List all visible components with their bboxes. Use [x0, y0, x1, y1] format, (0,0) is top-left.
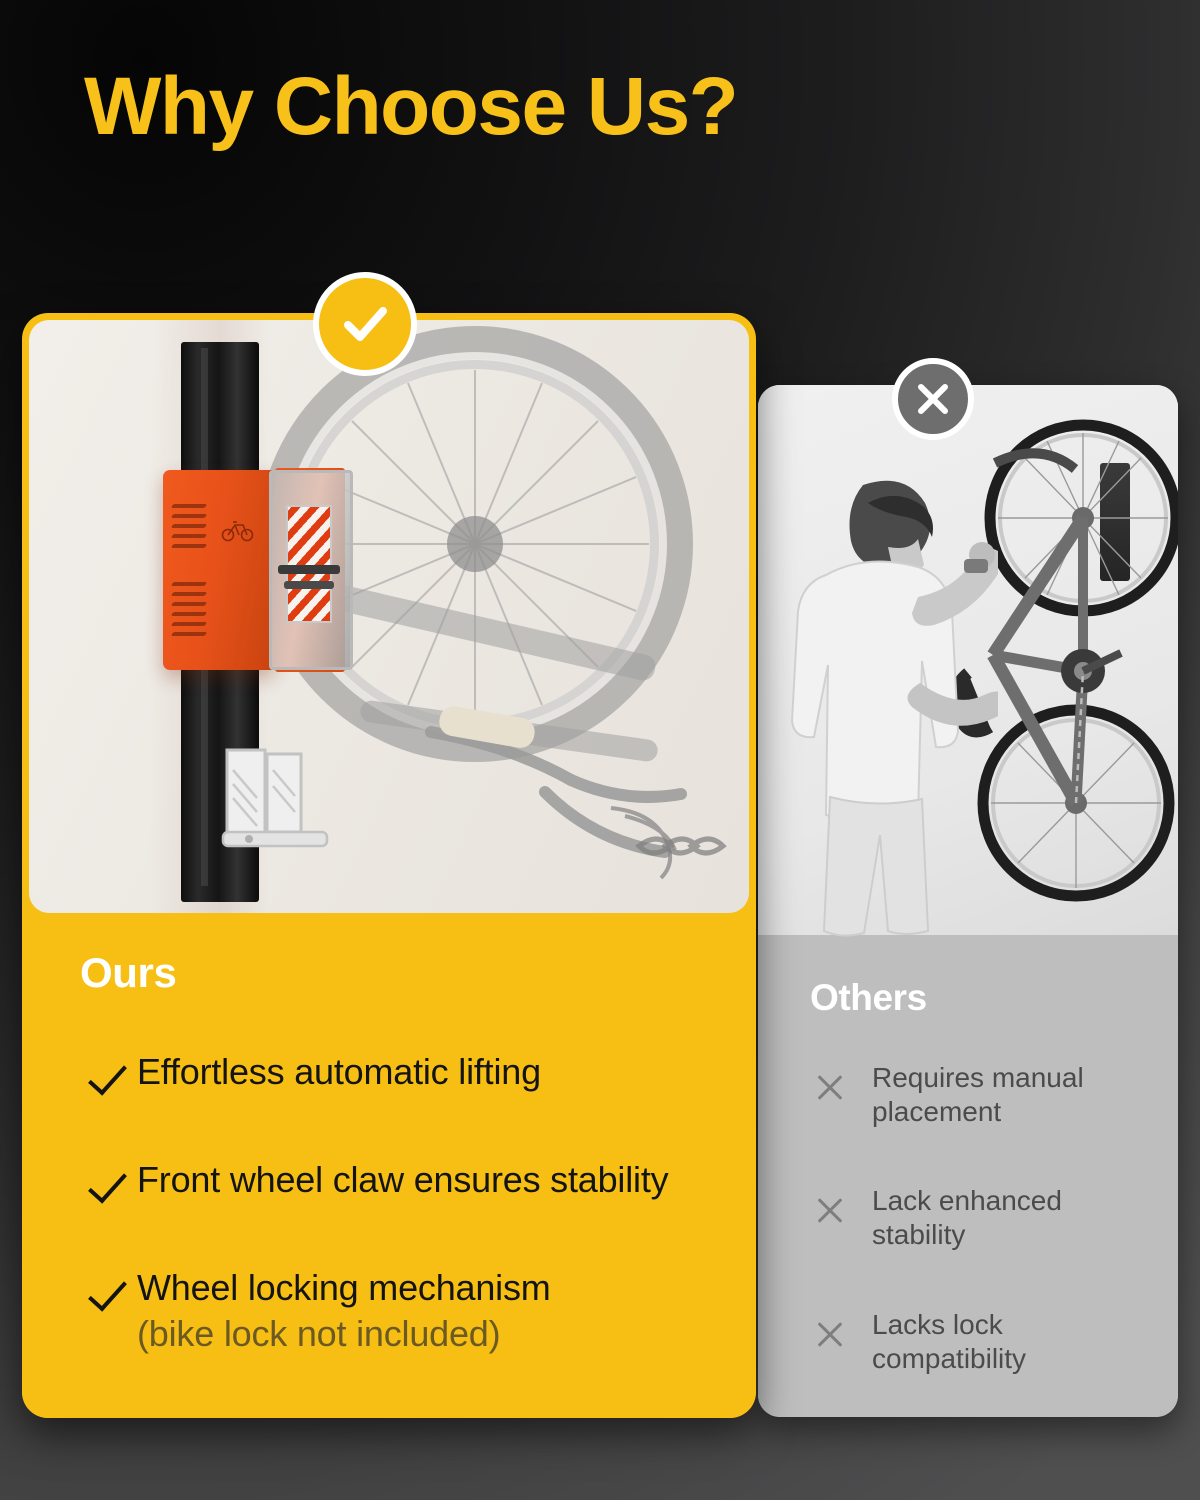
x-icon — [810, 1194, 872, 1228]
person-illustration — [768, 467, 998, 937]
list-item: Effortless automatic lifting — [62, 1049, 716, 1095]
list-item: Front wheel claw ensures stability — [62, 1157, 716, 1203]
others-photo — [758, 385, 1178, 937]
claw-grip-pad — [286, 505, 332, 623]
check-icon — [62, 1165, 137, 1199]
others-item-label: Lack enhanced stability — [872, 1184, 1144, 1252]
check-circle-icon — [313, 272, 417, 376]
ours-list: Effortless automatic lifting Front wheel… — [62, 1049, 716, 1357]
others-list: Requires manual placement Lack enhanced … — [810, 1061, 1144, 1376]
ours-card: Ours Effortless automatic lifting Front … — [22, 313, 756, 1418]
x-icon — [810, 1318, 872, 1352]
list-item: Requires manual placement — [810, 1061, 1144, 1129]
ours-heading: Ours — [80, 949, 716, 997]
ours-item-note: (bike lock not included) — [137, 1311, 551, 1357]
others-card: Others Requires manual placement Lack en… — [758, 385, 1178, 1417]
ours-photo — [29, 320, 749, 913]
others-item-label: Lacks lock compatibility — [872, 1308, 1144, 1376]
ours-item-label: Wheel locking mechanism — [137, 1267, 551, 1308]
list-item: Lacks lock compatibility — [810, 1308, 1144, 1376]
check-icon — [62, 1273, 137, 1307]
front-wheel-claw — [269, 470, 353, 670]
others-panel: Others Requires manual placement Lack en… — [758, 935, 1178, 1417]
list-item: Lack enhanced stability — [810, 1184, 1144, 1252]
ours-panel: Ours Effortless automatic lifting Front … — [22, 913, 756, 1418]
ours-item-label: Effortless automatic lifting — [137, 1049, 541, 1095]
others-item-label: Requires manual placement — [872, 1061, 1144, 1129]
claw-axle-secondary — [284, 581, 334, 589]
x-circle-icon — [892, 358, 974, 440]
list-item: Wheel locking mechanism (bike lock not i… — [62, 1265, 716, 1357]
bike-handlebar — [425, 696, 749, 906]
lower-support-bracket — [205, 744, 331, 860]
ours-item-label-group: Wheel locking mechanism (bike lock not i… — [137, 1265, 551, 1357]
claw-axle — [278, 565, 340, 574]
others-heading: Others — [810, 977, 1144, 1019]
check-icon — [62, 1057, 137, 1091]
page-title: Why Choose Us? — [84, 66, 737, 148]
bicycle-icon — [221, 518, 255, 542]
x-icon — [810, 1071, 872, 1105]
ours-item-label: Front wheel claw ensures stability — [137, 1157, 668, 1203]
lift-module-housing — [163, 470, 275, 670]
bike-wheel-hub — [447, 516, 503, 572]
